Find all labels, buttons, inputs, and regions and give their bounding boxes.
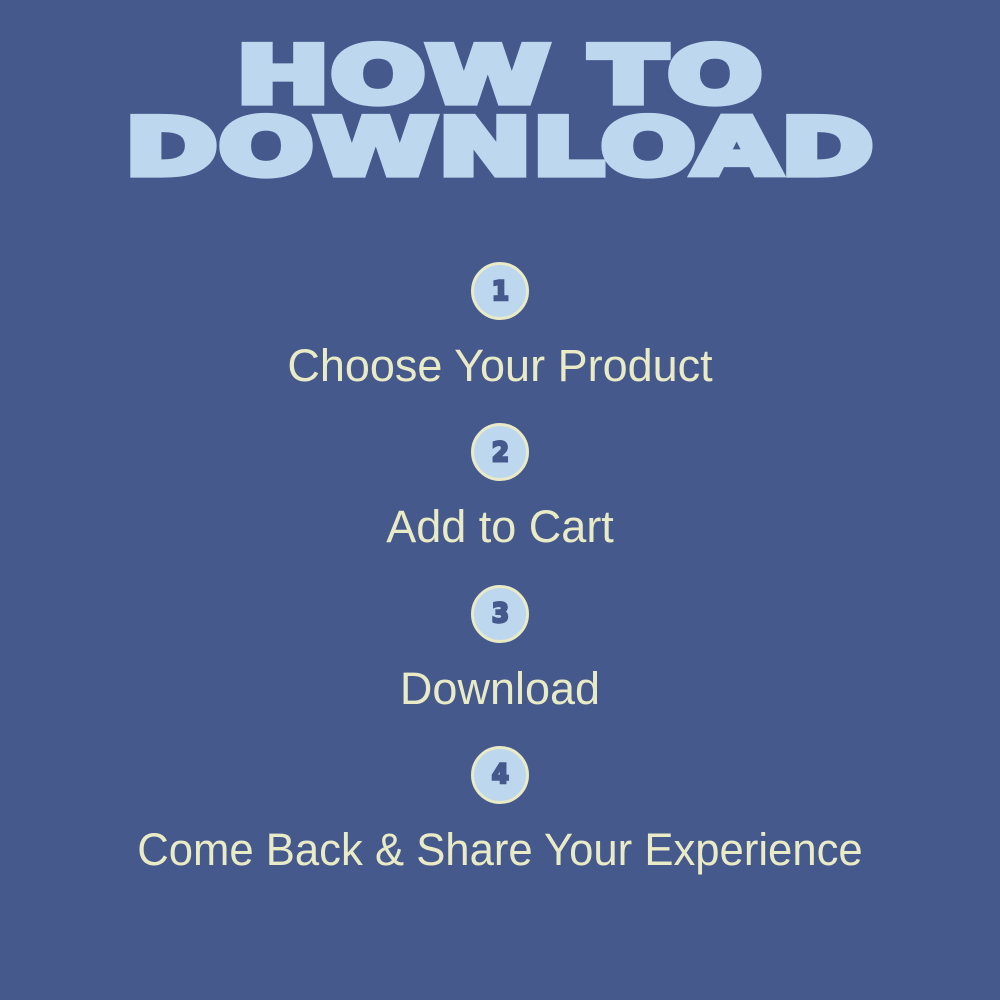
step-item-3: 3 Download <box>0 585 1000 712</box>
steps-list: 1 Choose Your Product 2 Add to Cart 3 Do… <box>0 262 1000 873</box>
step-number-2: 2 <box>491 439 508 466</box>
poster-title: HOW TO DOWNLOAD <box>0 44 1000 179</box>
title-line-download: DOWNLOAD <box>0 116 1000 180</box>
step-item-4: 4 Come Back & Share Your Experience <box>0 746 1000 873</box>
how-to-download-poster: HOW TO DOWNLOAD 1 Choose Your Product 2 … <box>0 0 1000 1000</box>
step-badge-3: 3 <box>471 585 529 643</box>
step-label-2: Add to Cart <box>386 503 614 550</box>
step-number-1: 1 <box>491 278 508 305</box>
step-item-2: 2 Add to Cart <box>0 423 1000 550</box>
step-label-1: Choose Your Product <box>287 342 712 389</box>
step-badge-2: 2 <box>471 423 529 481</box>
step-badge-4: 4 <box>471 746 529 804</box>
step-number-4: 4 <box>491 761 508 788</box>
step-label-4: Come Back & Share Your Experience <box>137 826 862 873</box>
step-badge-1: 1 <box>471 262 529 320</box>
step-item-1: 1 Choose Your Product <box>0 262 1000 389</box>
step-label-3: Download <box>400 665 600 712</box>
title-line-how-to: HOW TO <box>0 44 1000 108</box>
step-number-3: 3 <box>491 600 508 627</box>
